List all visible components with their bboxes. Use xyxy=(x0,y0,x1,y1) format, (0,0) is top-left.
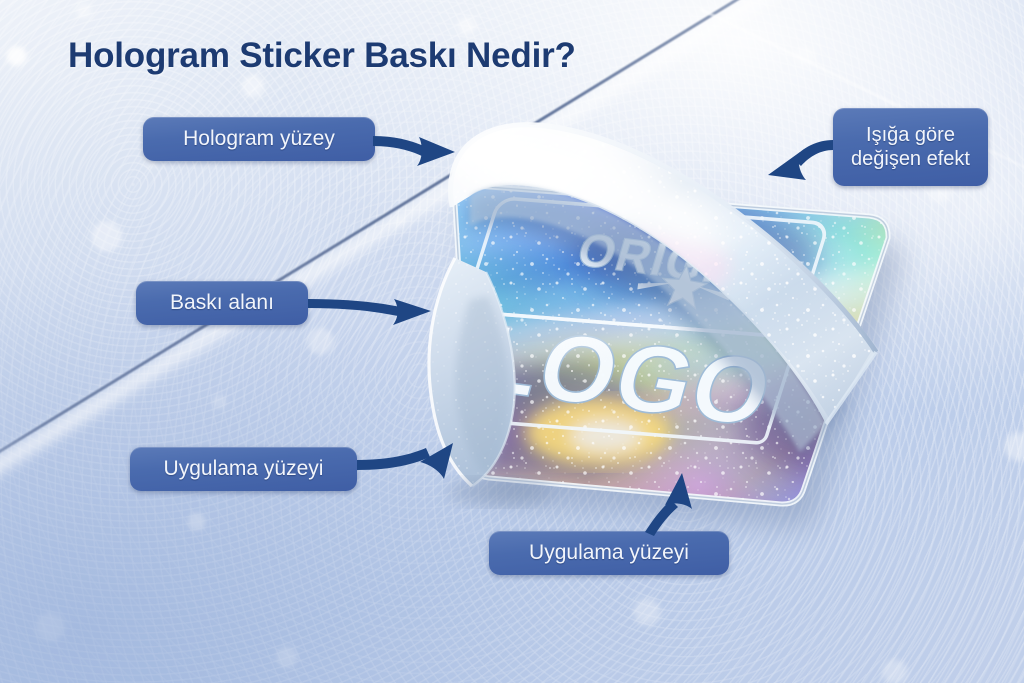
callout-baski-alani-label: Baskı alanı xyxy=(170,290,274,316)
callout-isiga-gore-degisen-efekt[interactable]: Işığa göre değişen efekt xyxy=(833,108,988,186)
page-title: Hologram Sticker Baskı Nedir? xyxy=(68,36,576,76)
callout-uygulama-yuzeyi-bottom-label: Uygulama yüzeyi xyxy=(529,540,689,566)
callout-hologram-yuzey[interactable]: Hologram yüzey xyxy=(143,117,375,161)
callout-isiga-gore-line2: değişen efekt xyxy=(851,147,970,171)
infographic-canvas: ORIGINAL LOGO xyxy=(0,0,1024,683)
callout-isiga-gore-line1: Işığa göre xyxy=(866,123,955,147)
callout-uygulama-yuzeyi-left[interactable]: Uygulama yüzeyi xyxy=(130,447,357,491)
sticker-contact-shadow xyxy=(448,478,552,506)
callout-uygulama-yuzeyi-bottom[interactable]: Uygulama yüzeyi xyxy=(489,531,729,575)
callout-hologram-yuzey-label: Hologram yüzey xyxy=(183,126,335,152)
callout-uygulama-yuzeyi-left-label: Uygulama yüzeyi xyxy=(164,456,324,482)
hologram-sticker-illustration: ORIGINAL LOGO xyxy=(0,0,1024,683)
callout-baski-alani[interactable]: Baskı alanı xyxy=(136,281,308,325)
